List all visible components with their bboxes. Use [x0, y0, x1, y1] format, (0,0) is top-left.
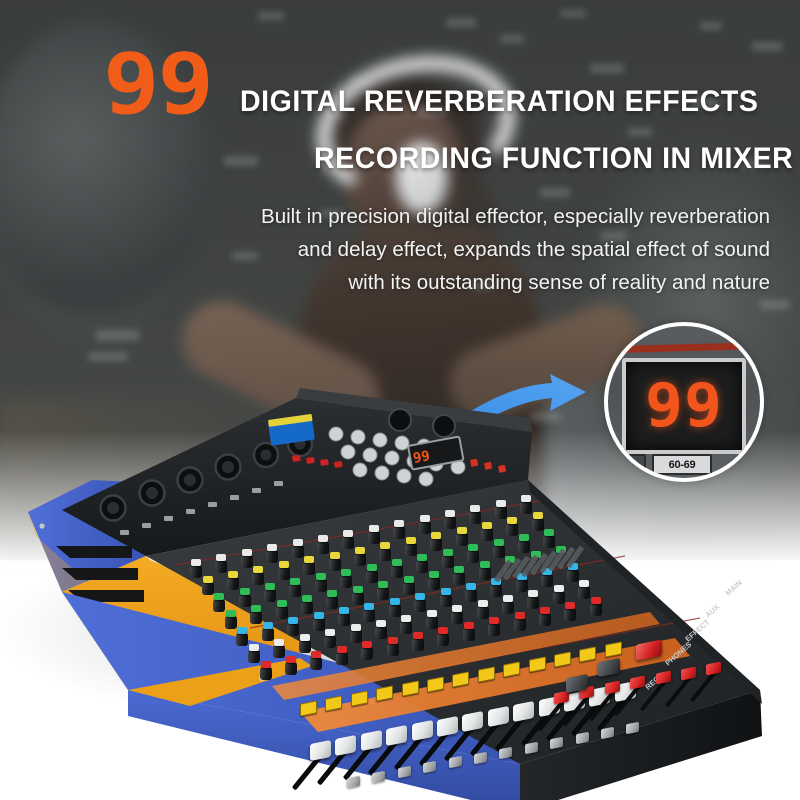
knob-high-eq[interactable]	[481, 522, 493, 541]
knob-gain[interactable]	[241, 549, 253, 568]
knob-mid-eq[interactable]	[239, 588, 251, 607]
knob-gain[interactable]	[520, 495, 532, 514]
audio-mixer-console: 99 REC PHONES EFFECT AUX MAIN	[0, 360, 800, 800]
knob-low-eq[interactable]	[377, 581, 389, 600]
knob-pan[interactable]	[285, 656, 297, 675]
knob-gain[interactable]	[368, 525, 380, 544]
knob-aux-send[interactable]	[440, 588, 452, 607]
bokeh-light	[752, 42, 782, 51]
knob-mid-eq[interactable]	[442, 549, 454, 568]
knob-mid-eq[interactable]	[213, 593, 225, 612]
bokeh-light	[590, 64, 624, 73]
headline-line-1: DIGITAL REVERBERATION EFFECTS	[240, 85, 758, 119]
knob-aux-send[interactable]	[363, 603, 375, 622]
knob-gain[interactable]	[266, 544, 278, 563]
knob-high-eq[interactable]	[379, 542, 391, 561]
knob-aux-send[interactable]	[465, 583, 477, 602]
xlr-jack	[389, 409, 411, 431]
subtext-line-3: with its outstanding sense of reality an…	[150, 266, 770, 299]
bokeh-light	[446, 18, 476, 27]
knob-gain[interactable]	[317, 535, 329, 554]
badge-number-99: 99	[103, 42, 212, 126]
knob-gain[interactable]	[419, 515, 431, 534]
knob-effect-send[interactable]	[527, 590, 539, 609]
knob-gain[interactable]	[292, 539, 304, 558]
knob-pan[interactable]	[412, 632, 424, 651]
knob-high-eq[interactable]	[329, 552, 341, 571]
knob-effect-send[interactable]	[502, 595, 514, 614]
bokeh-light	[96, 330, 140, 341]
knob-gain[interactable]	[190, 559, 202, 578]
knob-high-eq[interactable]	[303, 556, 315, 575]
knob-pan[interactable]	[336, 646, 348, 665]
knob-pan[interactable]	[488, 617, 500, 636]
knob-low-eq[interactable]	[225, 610, 237, 629]
knob-pan[interactable]	[260, 661, 272, 680]
knob-gain[interactable]	[495, 500, 507, 519]
knob-high-eq[interactable]	[252, 566, 264, 585]
knob-gain[interactable]	[342, 530, 354, 549]
knob-effect-send[interactable]	[426, 610, 438, 629]
knob-mid-eq[interactable]	[264, 583, 276, 602]
mixer-led-value: 99	[412, 448, 431, 467]
knob-low-eq[interactable]	[403, 576, 415, 595]
knob-high-eq[interactable]	[227, 571, 239, 590]
svg-text:AUX: AUX	[703, 602, 721, 619]
knob-mid-eq[interactable]	[340, 569, 352, 588]
knob-gain[interactable]	[393, 520, 405, 539]
bokeh-light	[700, 22, 722, 30]
knob-low-eq[interactable]	[276, 600, 288, 619]
knob-effect-send[interactable]	[375, 620, 387, 639]
knob-mid-eq[interactable]	[391, 559, 403, 578]
bokeh-light	[540, 188, 570, 197]
knob-aux-send[interactable]	[313, 612, 325, 631]
knob-high-eq[interactable]	[456, 527, 468, 546]
button-mute-channel-6[interactable]	[427, 676, 444, 692]
svg-text:MAIN: MAIN	[723, 578, 743, 597]
knob-effect-send[interactable]	[553, 585, 565, 604]
knob-mid-eq[interactable]	[416, 554, 428, 573]
knob-pan[interactable]	[590, 597, 602, 616]
bokeh-light	[760, 300, 790, 309]
bokeh-light	[500, 35, 524, 43]
knob-high-eq[interactable]	[532, 512, 544, 531]
knob-high-eq[interactable]	[278, 561, 290, 580]
knob-high-eq[interactable]	[354, 547, 366, 566]
knob-gain[interactable]	[215, 554, 227, 573]
knob-pan[interactable]	[514, 612, 526, 631]
knob-effect-send[interactable]	[451, 605, 463, 624]
knob-effect-send[interactable]	[324, 629, 336, 648]
knob-aux-send[interactable]	[414, 593, 426, 612]
knob-pan[interactable]	[463, 622, 475, 641]
fader-aux-6[interactable]	[681, 666, 696, 680]
knob-low-eq[interactable]	[326, 590, 338, 609]
knob-high-eq[interactable]	[202, 576, 214, 595]
bokeh-light	[350, 78, 372, 85]
knob-aux-send[interactable]	[262, 622, 274, 641]
callout-red-stripe	[604, 342, 764, 354]
knob-effect-send[interactable]	[248, 644, 260, 663]
knob-effect-send[interactable]	[400, 615, 412, 634]
fader-sub-6[interactable]	[474, 751, 487, 764]
knob-effect-send[interactable]	[273, 639, 285, 658]
fader-sub-8[interactable]	[525, 741, 538, 754]
subtext-block: Built in precision digital effector, esp…	[150, 200, 770, 299]
knob-aux-send[interactable]	[389, 598, 401, 617]
knob-high-eq[interactable]	[506, 517, 518, 536]
knob-effect-send[interactable]	[350, 624, 362, 643]
knob-low-eq[interactable]	[453, 566, 465, 585]
bokeh-light	[258, 12, 284, 20]
knob-low-eq[interactable]	[479, 561, 491, 580]
promo-banner: 99 DIGITAL REVERBERATION EFFECTS RECORDI…	[0, 0, 800, 800]
subtext-line-1: Built in precision digital effector, esp…	[150, 200, 770, 233]
xlr-jack	[433, 415, 455, 437]
knob-pan[interactable]	[387, 637, 399, 656]
subtext-line-2: and delay effect, expands the spatial ef…	[150, 233, 770, 266]
knob-effect-send[interactable]	[477, 600, 489, 619]
knob-mid-eq[interactable]	[518, 534, 530, 553]
fader-channel-8[interactable]	[488, 706, 509, 727]
fader-sub-7[interactable]	[499, 746, 512, 759]
knob-gain[interactable]	[444, 510, 456, 529]
chassis-screw	[39, 523, 44, 528]
knob-effect-send[interactable]	[299, 634, 311, 653]
knob-mid-eq[interactable]	[467, 544, 479, 563]
bokeh-light	[224, 156, 258, 166]
knob-mid-eq[interactable]	[289, 578, 301, 597]
bokeh-light	[560, 10, 586, 17]
knob-mid-eq[interactable]	[366, 564, 378, 583]
knob-pan[interactable]	[564, 602, 576, 621]
knob-aux-send[interactable]	[287, 617, 299, 636]
headline-line-2: RECORDING FUNCTION IN MIXER	[314, 142, 793, 176]
knob-low-eq[interactable]	[301, 595, 313, 614]
knob-low-eq[interactable]	[428, 571, 440, 590]
knob-aux-send[interactable]	[338, 607, 350, 626]
fader-channel-6[interactable]	[437, 715, 458, 736]
knob-pan[interactable]	[437, 627, 449, 646]
knob-gain[interactable]	[469, 505, 481, 524]
knob-low-eq[interactable]	[352, 586, 364, 605]
knob-mid-eq[interactable]	[543, 529, 555, 548]
knob-low-eq[interactable]	[250, 605, 262, 624]
knob-mid-eq[interactable]	[315, 573, 327, 592]
knob-high-eq[interactable]	[430, 532, 442, 551]
knob-mid-eq[interactable]	[493, 539, 505, 558]
knob-high-eq[interactable]	[405, 537, 417, 556]
fader-channel-7[interactable]	[462, 711, 483, 732]
bokeh-light	[628, 128, 652, 136]
knob-aux-send[interactable]	[236, 627, 248, 646]
knob-pan[interactable]	[361, 641, 373, 660]
knob-pan[interactable]	[310, 651, 322, 670]
knob-pan[interactable]	[539, 607, 551, 626]
knob-effect-send[interactable]	[578, 580, 590, 599]
